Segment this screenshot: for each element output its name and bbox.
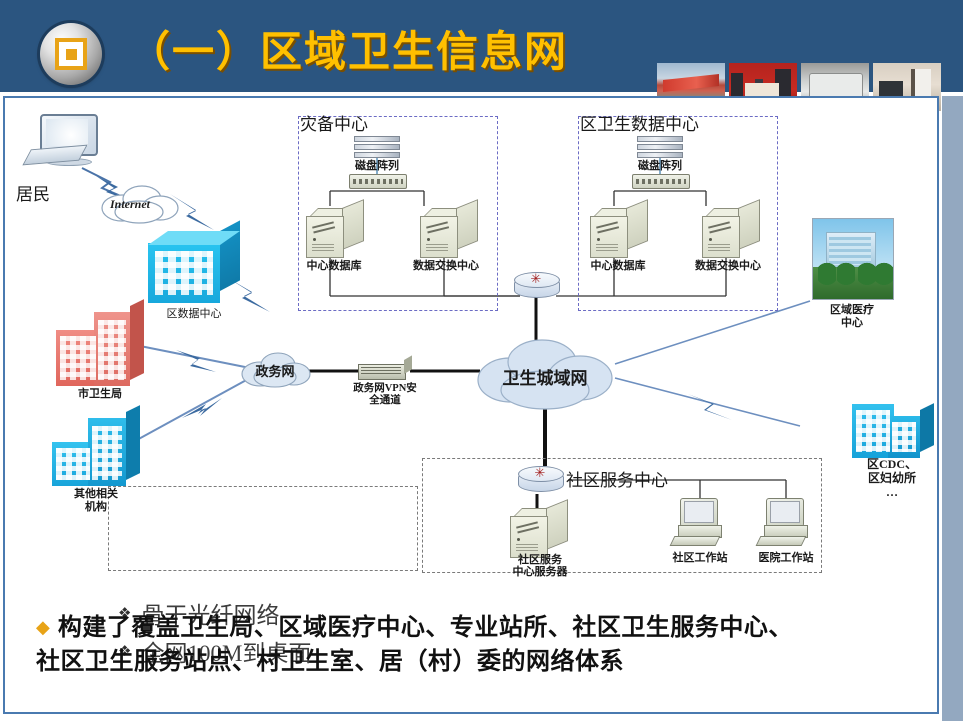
district-data-center-icon (148, 231, 240, 303)
node-label-disk-array-dhdc: 磁盘阵列 (617, 160, 703, 173)
page-title: （一）区域卫生信息网 (128, 18, 568, 79)
node-label-district-cdc-3: … (842, 486, 942, 499)
regional-medical-center-photo (812, 218, 894, 300)
hospital-workstation-icon (758, 498, 814, 548)
internet-label: Internet (110, 197, 150, 212)
gov-network-label: 政务网 (238, 365, 312, 378)
gov-network-cloud-icon: 政务网 (238, 348, 312, 390)
disk-array-icon-dr (354, 136, 400, 158)
internet-cloud-icon: Internet (96, 182, 182, 224)
node-label-disk-array-dr: 磁盘阵列 (334, 160, 420, 173)
community-workstation-icon (672, 498, 728, 548)
switch-icon-dhdc (632, 174, 690, 189)
node-label-district-cdc-1: 区CDC、 (842, 458, 942, 471)
other-institutions-icon (52, 408, 140, 486)
health-man-label: 卫生城域网 (470, 364, 620, 389)
node-label-city-health-bureau: 市卫生局 (56, 388, 144, 401)
city-health-bureau-icon (56, 304, 144, 386)
central-db-server-dr (306, 208, 362, 256)
bottom-statement-line2: 社区卫生服务站点、村卫生室、居（村）委的网络体系 (36, 646, 926, 678)
node-label-community-workstation: 社区工作站 (650, 552, 750, 565)
resident-computer-icon (30, 114, 100, 176)
node-label-resident: 居民 (16, 180, 50, 205)
node-label-data-exchange-dr: 数据交换中心 (396, 260, 496, 273)
diamond-marker-icon: ◆ (36, 612, 50, 642)
node-label-central-db-dhdc: 中心数据库 (574, 260, 662, 273)
bottom-statement-line1: 构建了覆盖卫生局、区域医疗中心、专业站所、社区卫生服务中心、 (58, 612, 793, 644)
zone-title-disaster-recovery: 灾备中心 (300, 110, 368, 135)
zone-bullets (108, 486, 418, 571)
node-label-other-institutions-2: 机构 (52, 501, 140, 514)
core-router-icon: ✳ (514, 272, 558, 300)
switch-icon-dr (349, 174, 407, 189)
vpn-gateway-icon (358, 360, 412, 380)
data-exchange-server-dhdc (702, 208, 758, 256)
node-label-other-institutions-1: 其他相关 (52, 488, 140, 501)
node-label-community-server-2: 中心服务器 (490, 566, 590, 579)
node-label-district-data-center: 区数据中心 (148, 308, 240, 321)
node-label-regional-medical-1: 区域医疗 (802, 304, 902, 317)
network-diagram: 灾备中心 区卫生数据中心 社区服务中心 居民 Internet 区数据 (0, 96, 940, 601)
zone-title-district-health-data: 区卫生数据中心 (580, 110, 699, 135)
community-center-server-icon (510, 508, 566, 556)
node-label-hospital-workstation: 医院工作站 (736, 552, 836, 565)
node-label-district-cdc-2: 区妇幼所 (842, 472, 942, 485)
right-edge-strip (942, 96, 963, 721)
node-label-data-exchange-dhdc: 数据交换中心 (678, 260, 778, 273)
district-cdc-icon (852, 386, 934, 458)
square-emblem-icon (40, 23, 102, 85)
vpn-label-line2: 全通道 (322, 394, 448, 407)
slide-root: （一）区域卫生信息网 (0, 0, 963, 721)
node-label-regional-medical-2: 中心 (802, 317, 902, 330)
zone-title-community-service: 社区服务中心 (566, 466, 668, 491)
disk-array-icon-dhdc (637, 136, 683, 158)
slide-header: （一）区域卫生信息网 (0, 0, 963, 92)
data-exchange-server-dr (420, 208, 476, 256)
health-man-cloud-icon: 卫生城域网 (470, 334, 620, 410)
central-db-server-dhdc (590, 208, 646, 256)
community-router-icon: ✳ (518, 466, 562, 494)
node-label-central-db-dr: 中心数据库 (290, 260, 378, 273)
bottom-statement: ◆ 构建了覆盖卫生局、区域医疗中心、专业站所、社区卫生服务中心、 社区卫生服务站… (36, 612, 926, 678)
